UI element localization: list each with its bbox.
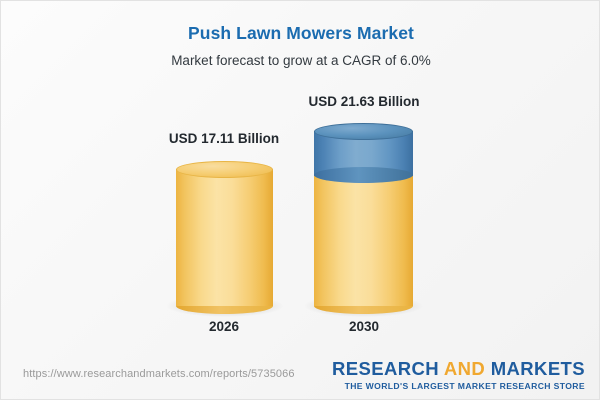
bar-body-2026[interactable] [176,169,273,306]
brand-logo[interactable]: RESEARCH AND MARKETS THE WORLD'S LARGEST… [332,358,585,391]
brand-tagline: THE WORLD'S LARGEST MARKET RESEARCH STOR… [332,381,585,391]
bar-value-label-2030: USD 21.63 Billion [244,94,484,109]
bar-top-cap-2026[interactable] [176,161,273,178]
bar-value-label-2026: USD 17.11 Billion [104,131,344,146]
brand-wordmark-and: AND [444,358,485,379]
bar-segment-base-2030[interactable] [314,173,413,306]
brand-wordmark-research: RESEARCH [332,358,444,379]
footer: https://www.researchandmarkets.com/repor… [1,354,600,399]
bar-segment-divider-2030 [314,167,413,183]
brand-wordmark: RESEARCH AND MARKETS [332,358,585,380]
source-url-link[interactable]: https://www.researchandmarkets.com/repor… [23,368,295,380]
brand-wordmark-markets: MARKETS [485,358,585,379]
chart-plot-area: USD 17.11 Billion 2026 USD 21.63 Billion [1,1,600,356]
bar-top-cap-2030[interactable] [314,123,413,140]
bar-category-label-2030: 2030 [244,319,484,334]
market-forecast-chart-card: Push Lawn Mowers Market Market forecast … [0,0,600,400]
